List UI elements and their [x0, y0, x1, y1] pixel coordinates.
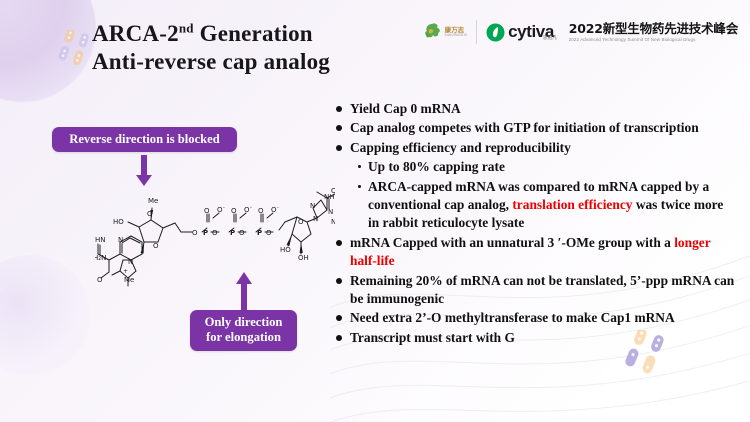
- list-item: Capping efficiency and reproducibility: [336, 139, 736, 157]
- kanghe-logo-text: 康万志 KANGWANZHI: [445, 27, 468, 37]
- bullet-marker: [336, 125, 342, 131]
- bullet-marker: [336, 315, 342, 321]
- bullet-list: Yield Cap 0 mRNA Cap analog competes wit…: [336, 100, 736, 348]
- page-title: ARCA-2nd Generation Anti-reverse cap ana…: [92, 20, 422, 76]
- badge-only-direction-elongation: Only direction for elongation: [190, 310, 297, 351]
- svg-text:O: O: [204, 207, 210, 215]
- bullet-text-rich: mRNA Capped with an unnatural 3 ′-OMe gr…: [350, 234, 736, 271]
- label-hn: HN: [95, 236, 106, 244]
- svg-text:O: O: [266, 229, 272, 237]
- svg-text:N: N: [128, 258, 133, 266]
- bullet-text: Cap analog competes with GTP for initiat…: [350, 119, 699, 137]
- svg-text:O: O: [239, 229, 245, 237]
- list-item-sub: Up to 80% capping rate: [358, 158, 736, 176]
- bullet-marker-sub: [358, 185, 361, 188]
- bullet-marker: [336, 335, 342, 341]
- bullet-text: Yield Cap 0 mRNA: [350, 100, 461, 118]
- svg-text:-: -: [277, 205, 279, 211]
- svg-text:O: O: [258, 207, 264, 215]
- list-item: Cap analog competes with GTP for initiat…: [336, 119, 736, 137]
- svg-text:P: P: [257, 229, 262, 237]
- title-line2: Anti-reverse cap analog: [92, 49, 330, 74]
- svg-text:N: N: [118, 236, 123, 244]
- svg-text:-: -: [250, 205, 252, 211]
- arca-chemical-structure: Me O HO O N N Me + HN H₂N O O P O O - O …: [95, 172, 335, 297]
- list-item: mRNA Capped with an unnatural 3 ′-OMe gr…: [336, 234, 736, 271]
- cytiva-drop-icon: [486, 23, 505, 42]
- kanghe-name-en: KANGWANZHI: [445, 34, 468, 37]
- svg-text:O: O: [231, 207, 237, 215]
- label-me-top: Me: [148, 197, 158, 205]
- label-ho-right: HO: [280, 246, 291, 254]
- svg-text:-: -: [223, 205, 225, 211]
- badge-elongation-line1: Only direction: [190, 315, 297, 330]
- svg-text:O: O: [147, 210, 153, 218]
- cytiva-name-cn: 思拓凡: [543, 35, 557, 41]
- label-h2n: H₂N: [95, 254, 106, 262]
- list-item-sub: ARCA-capped mRNA was compared to mRNA ca…: [358, 178, 736, 233]
- bullet-text: Need extra 2’-O methyltransferase to mak…: [350, 309, 675, 327]
- summit-title-cn: 2022新型生物药先进技术峰会: [569, 22, 738, 36]
- kanghe-logo: 康万志 KANGWANZHI: [421, 21, 468, 43]
- summit-title-en: 2022 Advanced Technology Summit Of New B…: [569, 36, 738, 43]
- title-superscript: nd: [179, 20, 194, 35]
- segment-plain: mRNA Capped with an unnatural 3 ′-OMe gr…: [350, 235, 674, 250]
- svg-text:N: N: [328, 208, 333, 216]
- slide-canvas: ARCA-2nd Generation Anti-reverse cap ana…: [0, 0, 750, 422]
- segment-emphasis: translation efficiency: [512, 197, 632, 212]
- summit-branding: 2022新型生物药先进技术峰会 2022 Advanced Technology…: [569, 22, 738, 43]
- svg-text:N: N: [313, 215, 318, 223]
- svg-text:O: O: [153, 242, 159, 250]
- decorative-chromosome-icon: [58, 30, 92, 66]
- cytiva-logo: cytiva 思拓凡: [486, 22, 557, 42]
- logo-bar: 康万志 KANGWANZHI cytiva 思拓凡 2022新型生物药先进技术峰…: [421, 20, 738, 44]
- badge-reverse-direction: Reverse direction is blocked: [52, 127, 237, 152]
- badge-elongation-line2: for elongation: [190, 330, 297, 345]
- bullet-text-rich: ARCA-capped mRNA was compared to mRNA ca…: [368, 178, 736, 233]
- title-line1-main: ARCA-2: [92, 21, 179, 46]
- svg-text:O: O: [298, 218, 304, 226]
- list-item: Yield Cap 0 mRNA: [336, 100, 736, 118]
- svg-text:+: +: [123, 268, 128, 275]
- svg-text:O: O: [97, 276, 103, 284]
- bullet-marker: [336, 278, 342, 284]
- list-item: Remaining 20% of mRNA can not be transla…: [336, 272, 736, 309]
- bullet-text: Capping efficiency and reproducibility: [350, 139, 571, 157]
- bullet-text: Up to 80% capping rate: [368, 158, 505, 176]
- bullet-marker: [336, 106, 342, 112]
- svg-text:P: P: [230, 229, 235, 237]
- clover-leaf-icon: [421, 21, 443, 43]
- label-nh2: NH₂: [331, 218, 335, 226]
- label-nh: NH: [324, 193, 335, 201]
- svg-text:O: O: [212, 229, 218, 237]
- bullet-marker: [336, 145, 342, 151]
- label-ho-left: HO: [113, 218, 124, 226]
- svg-text:P: P: [203, 229, 208, 237]
- logo-divider: [476, 20, 477, 44]
- bullet-text: Remaining 20% of mRNA can not be transla…: [350, 272, 736, 309]
- label-me-bottom: Me: [124, 276, 134, 284]
- list-item: Transcript must start with G: [336, 329, 736, 347]
- bullet-text: Transcript must start with G: [350, 329, 515, 347]
- label-o-p1: O: [192, 229, 198, 237]
- svg-text:N: N: [310, 202, 315, 210]
- list-item: Need extra 2’-O methyltransferase to mak…: [336, 309, 736, 327]
- title-line1-rest: Generation: [194, 21, 313, 46]
- label-oh-right: OH: [298, 254, 309, 262]
- decorative-circle-left: [0, 255, 90, 375]
- bullet-marker-sub: [358, 165, 361, 168]
- bullet-marker: [336, 240, 342, 246]
